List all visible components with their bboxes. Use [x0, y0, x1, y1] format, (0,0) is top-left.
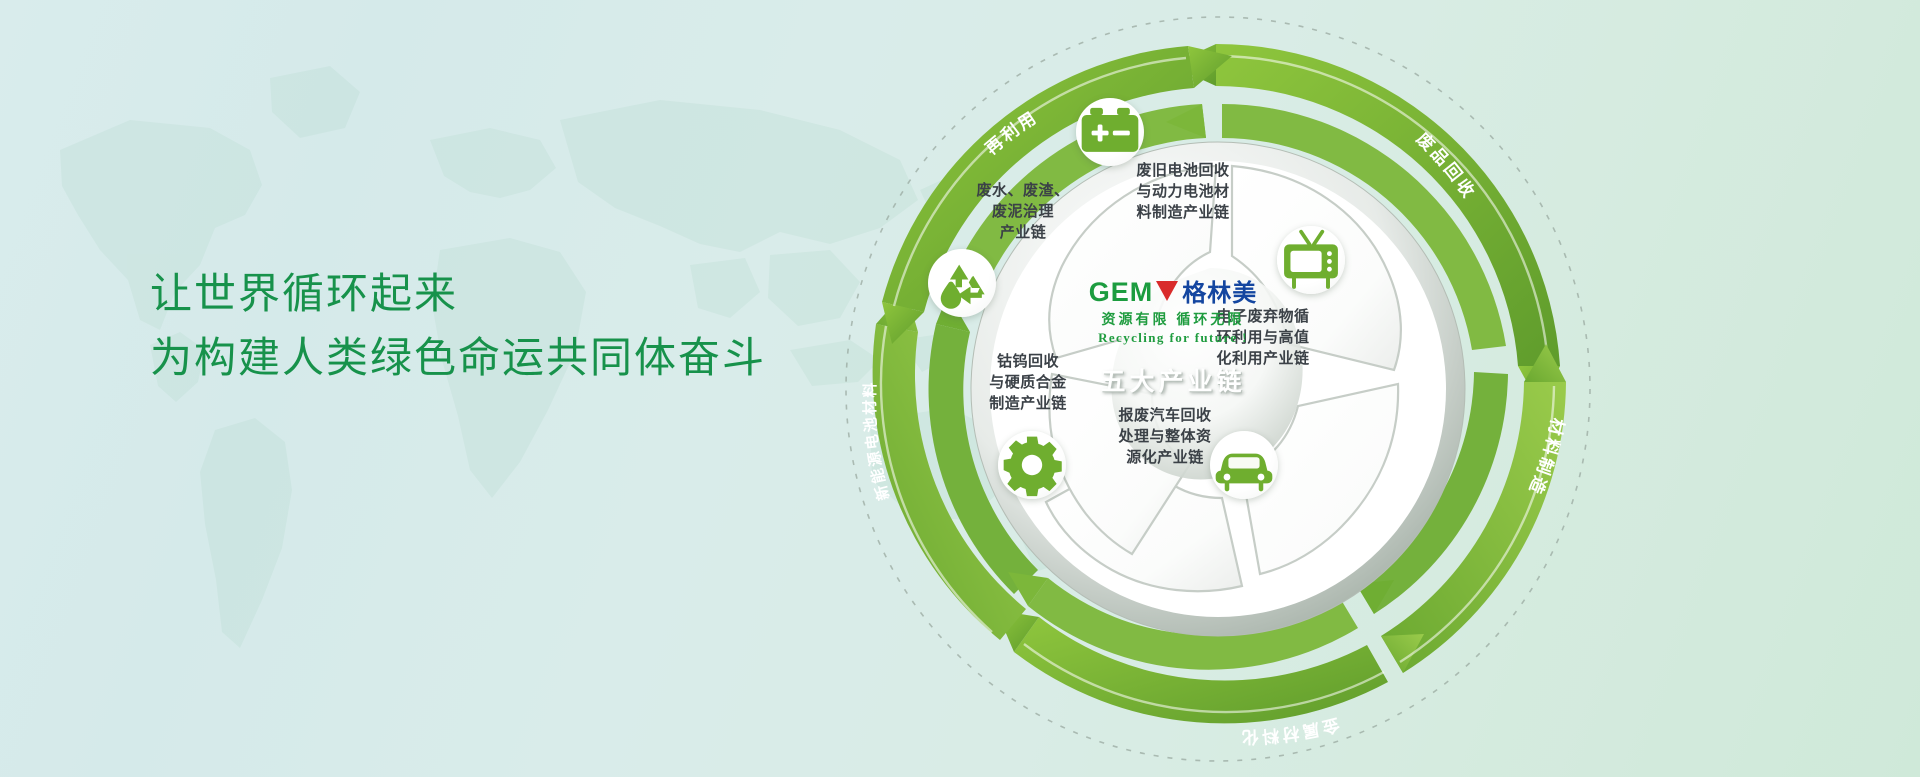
- battery-icon-bubble[interactable]: [1076, 98, 1144, 166]
- gem-triangle-icon: [1156, 281, 1178, 301]
- gem-latin: GEM: [1089, 279, 1154, 306]
- gear-icon-bubble[interactable]: [998, 431, 1066, 499]
- circular-economy-diagram: 废品回收 材料制造 金属材料化 新能源电池材料 再利用 废: [818, 0, 1618, 777]
- gear-icon: [998, 70, 1066, 777]
- gem-subtitle: 五大产业链: [1058, 362, 1288, 398]
- car-icon-bubble[interactable]: [1210, 431, 1278, 499]
- gem-wordmark: GEM 格林美: [1058, 279, 1288, 306]
- recycle-drop-icon: [928, 0, 996, 678]
- gem-chinese-name: 格林美: [1182, 282, 1257, 306]
- gem-logo: GEM 格林美 资源有限 循环无限 Recycling for future !…: [1058, 279, 1288, 398]
- battery-icon: [1076, 0, 1144, 527]
- headline-block: 让世界循环起来 为构建人类绿色命运共同体奋斗: [150, 262, 910, 390]
- car-icon: [1210, 70, 1278, 777]
- recycle-drop-icon-bubble[interactable]: [928, 249, 996, 317]
- hero-banner: 让世界循环起来 为构建人类绿色命运共同体奋斗: [0, 0, 1920, 777]
- headline-line-2: 为构建人类绿色命运共同体奋斗: [150, 326, 910, 390]
- gem-tagline-en: Recycling for future !: [1058, 330, 1288, 346]
- headline-line-1: 让世界循环起来: [150, 262, 910, 326]
- gem-tagline-cn: 资源有限 循环无限: [1058, 309, 1288, 329]
